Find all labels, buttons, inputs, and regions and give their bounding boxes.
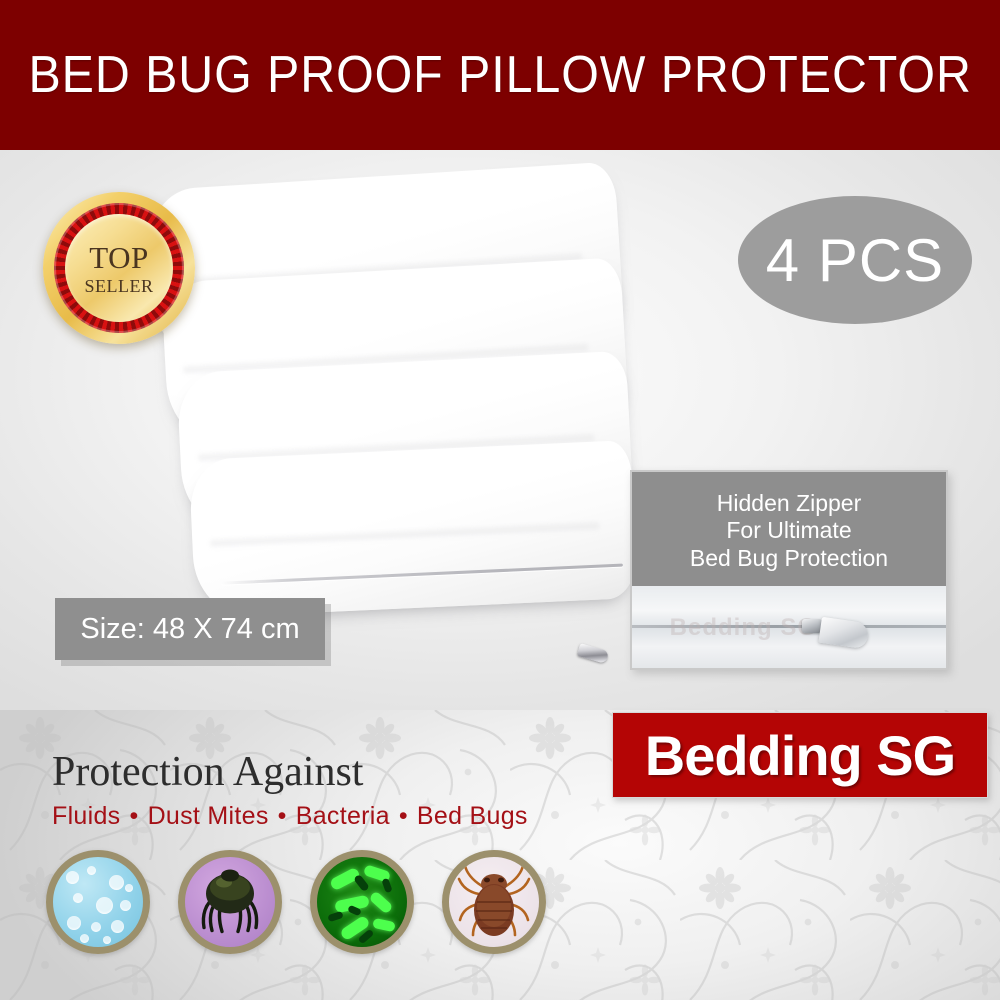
quantity-label: 4 PCS — [766, 226, 944, 295]
zipper-caption: Hidden Zipper For Ultimate Bed Bug Prote… — [632, 472, 946, 586]
zipper-pull-tab-icon — [819, 617, 870, 649]
benefits-title: Protection Against — [52, 748, 363, 796]
dust-mite-icon — [178, 850, 282, 954]
zipper-caption-line1: Hidden Zipper — [717, 490, 861, 517]
top-seller-badge: TOP SELLER — [43, 192, 195, 344]
bed-bug-icon — [442, 850, 546, 954]
pillow-crease — [210, 521, 599, 549]
zipper-pull-icon — [577, 643, 609, 664]
brand-logo: Bedding SG — [612, 712, 988, 798]
bacteria-icon — [310, 850, 414, 954]
water-drops-icon — [46, 850, 150, 954]
benefit-label-bed-bugs: Bed Bugs — [417, 802, 528, 830]
header-banner: BED BUG PROOF PILLOW PROTECTOR — [0, 0, 1000, 150]
benefits-list: Fluids•Dust Mites•Bacteria•Bed Bugs — [52, 802, 528, 831]
page-title: BED BUG PROOF PILLOW PROTECTOR — [28, 45, 971, 105]
bed-bug-glyph — [454, 860, 534, 944]
pillow-4 — [189, 440, 638, 618]
brand-logo-text: Bedding SG — [645, 723, 955, 788]
top-seller-line1: TOP — [89, 242, 149, 273]
list-separator: • — [269, 802, 296, 830]
pillow-seam — [221, 564, 623, 585]
benefit-label-bacteria: Bacteria — [296, 802, 390, 830]
zipper-photo: Bedding SG — [632, 586, 946, 668]
list-separator: • — [121, 802, 148, 830]
benefit-label-fluids: Fluids — [52, 802, 121, 830]
list-separator: • — [390, 802, 417, 830]
medallion-face: TOP SELLER — [65, 214, 173, 322]
product-image: BED BUG PROOF PILLOW PROTECTOR Bedding S… — [0, 0, 1000, 1000]
size-label: Size: 48 X 74 cm — [55, 598, 325, 660]
zipper-caption-line2: For Ultimate — [726, 517, 851, 544]
zipper-caption-line3: Bed Bug Protection — [690, 545, 888, 572]
top-seller-line2: SELLER — [85, 277, 154, 295]
benefit-icon-row — [46, 850, 546, 954]
dust-mite-glyph — [191, 864, 269, 938]
hidden-zipper-inset: Hidden Zipper For Ultimate Bed Bug Prote… — [630, 470, 948, 670]
zipper-photo-watermark: Bedding SG — [670, 614, 817, 642]
benefit-label-dust-mites: Dust Mites — [148, 802, 269, 830]
size-text: Size: 48 X 74 cm — [80, 613, 299, 646]
zipper-slider-icon — [802, 619, 822, 633]
quantity-badge: 4 PCS — [738, 196, 972, 324]
